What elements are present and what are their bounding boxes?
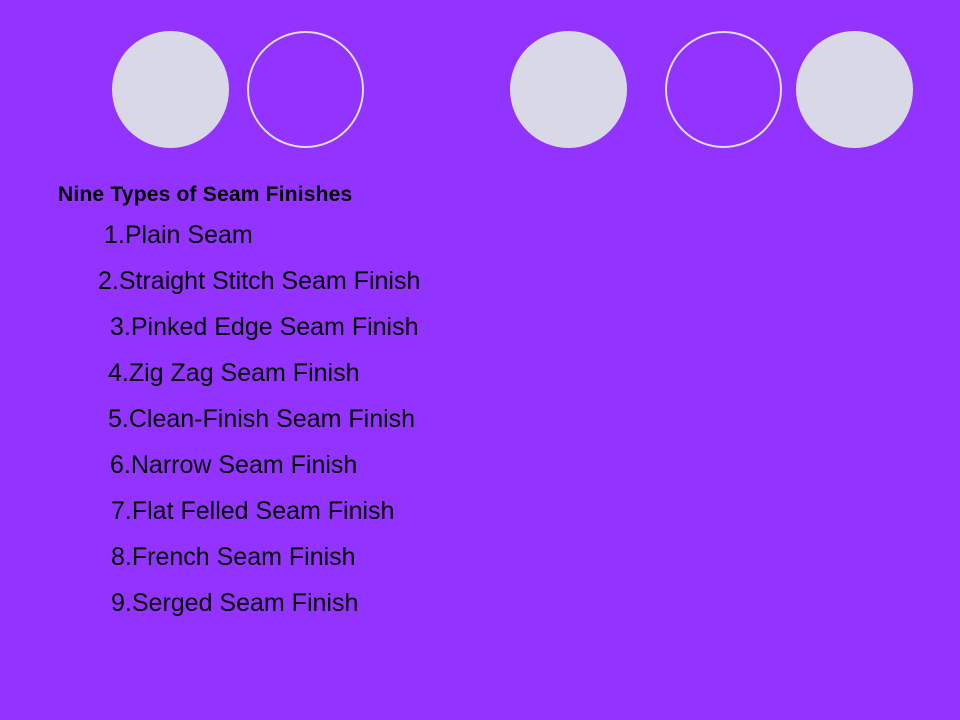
decorative-circle-filled-3 bbox=[796, 31, 913, 148]
decorative-circle-band bbox=[0, 0, 960, 178]
list-item-label: French Seam Finish bbox=[132, 543, 356, 571]
decorative-circle-outline-1 bbox=[247, 31, 364, 148]
list-item-label: Flat Felled Seam Finish bbox=[132, 497, 395, 525]
list-item-label: Zig Zag Seam Finish bbox=[129, 359, 360, 387]
list-item-label: Straight Stitch Seam Finish bbox=[119, 267, 421, 295]
presentation-slide: Nine Types of Seam Finishes 1.Plain Seam… bbox=[0, 0, 960, 720]
list-item-number: 6. bbox=[110, 451, 131, 479]
list-item: 1.Plain Seam bbox=[104, 223, 253, 248]
list-item-number: 8. bbox=[111, 543, 132, 571]
list-item-number: 3. bbox=[110, 313, 131, 341]
list-item-label: Pinked Edge Seam Finish bbox=[131, 313, 419, 341]
list-item-number: 4. bbox=[108, 359, 129, 387]
list-item-label: Narrow Seam Finish bbox=[131, 451, 357, 479]
list-item-label: Plain Seam bbox=[125, 221, 253, 249]
list-item-label: Serged Seam Finish bbox=[132, 589, 359, 617]
slide-title: Nine Types of Seam Finishes bbox=[58, 183, 352, 207]
decorative-circle-outline-2 bbox=[665, 31, 782, 148]
list-item-number: 1. bbox=[104, 221, 125, 249]
list-item: 7.Flat Felled Seam Finish bbox=[111, 499, 394, 524]
list-item: 6.Narrow Seam Finish bbox=[110, 453, 357, 478]
list-item-number: 5. bbox=[108, 405, 129, 433]
decorative-circle-filled-2 bbox=[510, 31, 627, 148]
list-item-number: 2. bbox=[98, 267, 119, 295]
list-item-number: 9. bbox=[111, 589, 132, 617]
list-item: 4.Zig Zag Seam Finish bbox=[108, 361, 360, 386]
list-item: 9.Serged Seam Finish bbox=[111, 591, 358, 616]
list-item: 5.Clean-Finish Seam Finish bbox=[108, 407, 415, 432]
list-item: 3.Pinked Edge Seam Finish bbox=[110, 315, 419, 340]
list-item-number: 7. bbox=[111, 497, 132, 525]
list-item: 8.French Seam Finish bbox=[111, 545, 356, 570]
list-item: 2.Straight Stitch Seam Finish bbox=[98, 269, 420, 294]
decorative-circle-filled-1 bbox=[112, 31, 229, 148]
list-item-label: Clean-Finish Seam Finish bbox=[129, 405, 415, 433]
